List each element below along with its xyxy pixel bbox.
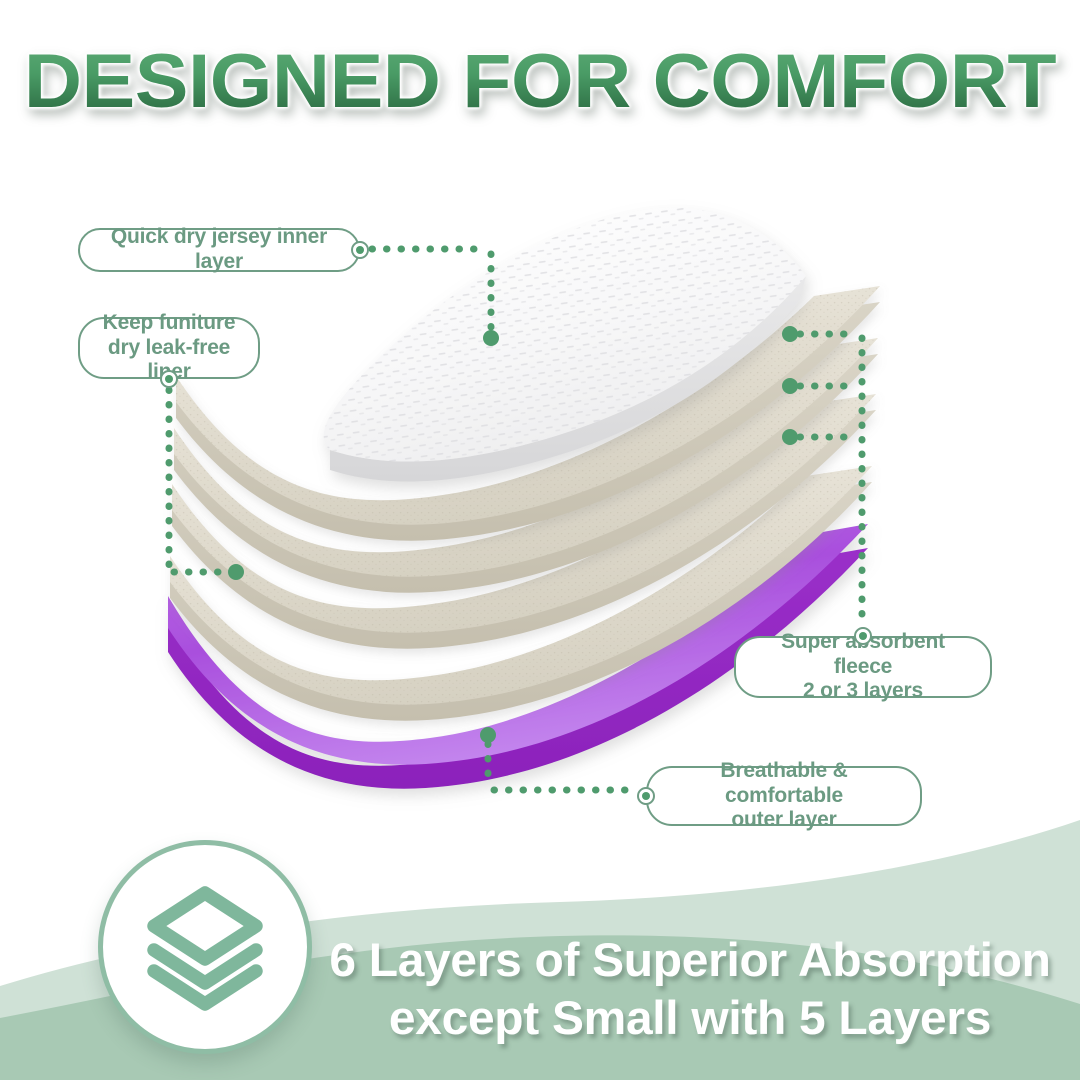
callout-super-absorbent-fleece[interactable]: Super absorbent fleece 2 or 3 layers: [734, 636, 992, 698]
layers-stack-icon: [130, 872, 280, 1022]
banner-headline: 6 Layers of Superior Absorption except S…: [323, 931, 1057, 1046]
banner-line-2: except Small with 5 Layers: [323, 989, 1057, 1046]
callout-line: 2 or 3 layers: [752, 679, 974, 704]
callout-quick-dry-jersey-inner-layer[interactable]: Quick dry jersey inner layer: [78, 228, 360, 272]
callout-anchor-dot-jersey: [351, 241, 369, 259]
leader-lines: [169, 249, 862, 790]
callout-line: Quick dry jersey inner layer: [96, 225, 342, 275]
leader-jersey: [372, 249, 499, 346]
page-title: DESIGNED FOR COMFORT: [0, 44, 1080, 120]
product-layer-fleece-2: [174, 338, 878, 593]
product-layer-jersey: [324, 208, 806, 482]
leader-outer: [480, 727, 630, 790]
callout-anchor-dot-liner: [160, 370, 178, 388]
product-layer-fleece-3: [172, 394, 876, 649]
product-layer-fleece-1: [176, 286, 880, 541]
callout-anchor-dot-fleece: [854, 627, 872, 645]
callout-line: Keep funiture: [96, 311, 242, 336]
infographic-page: DESIGNED FOR COMFORT: [0, 0, 1080, 1080]
leader-fleece: [782, 326, 862, 628]
banner-line-1: 6 Layers of Superior Absorption: [323, 931, 1057, 988]
layers-badge: [98, 840, 312, 1054]
leader-liner: [169, 390, 244, 580]
